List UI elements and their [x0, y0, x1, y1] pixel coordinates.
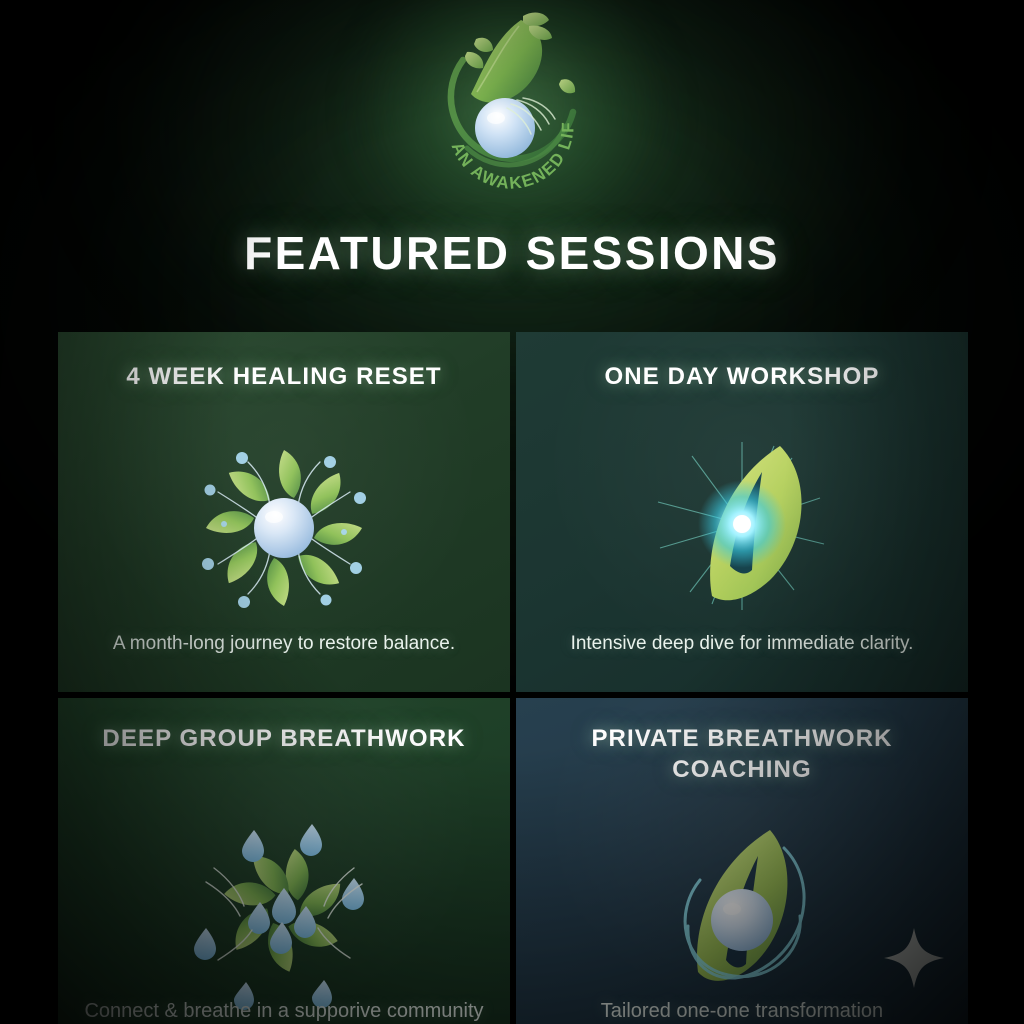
- featured-sessions-page: AN AWAKENED LIFE FEATURED SESSIONS 4 WEE…: [0, 0, 1024, 1024]
- card-description: Tailored one-one transformation: [516, 996, 968, 1024]
- card-title: ONE DAY WORKSHOP: [516, 362, 968, 393]
- leaf-wreath-pearl-icon: [184, 428, 384, 628]
- page-title: FEATURED SESSIONS: [0, 226, 1024, 280]
- card-title: DEEP GROUP BREATHWORK: [58, 724, 510, 755]
- four-point-sparkle-icon: [882, 926, 946, 990]
- card-title: PRIVATE BREATHWORK COACHING: [516, 724, 968, 785]
- card-title: 4 WEEK HEALING RESET: [58, 362, 510, 393]
- leaf-pearl-circle-logo-icon: AN AWAKENED LIFE: [397, 8, 627, 204]
- session-card-one-day-workshop[interactable]: ONE DAY WORKSHOP: [516, 332, 968, 692]
- card-description: A month-long journey to restore balance.: [58, 630, 510, 659]
- session-card-4-week-healing-reset[interactable]: 4 WEEK HEALING RESET: [58, 332, 510, 692]
- card-description: Connect & breathe in a supporive communi…: [58, 996, 510, 1024]
- featured-sessions-grid: 4 WEEK HEALING RESET: [58, 332, 968, 1024]
- session-card-deep-group-breathwork[interactable]: DEEP GROUP BREATHWORK: [58, 698, 510, 1024]
- brand-logo[interactable]: AN AWAKENED LIFE: [397, 8, 627, 204]
- leaf-pearl-orbit-icon: [642, 804, 842, 1004]
- session-card-private-breathwork-coaching[interactable]: PRIVATE BREATHWORK COACHING: [516, 698, 968, 1024]
- card-description: Intensive deep dive for immediate clarit…: [516, 630, 968, 659]
- leaf-cluster-droplets-icon: [184, 810, 384, 1010]
- glowing-leaf-icon: [642, 424, 842, 624]
